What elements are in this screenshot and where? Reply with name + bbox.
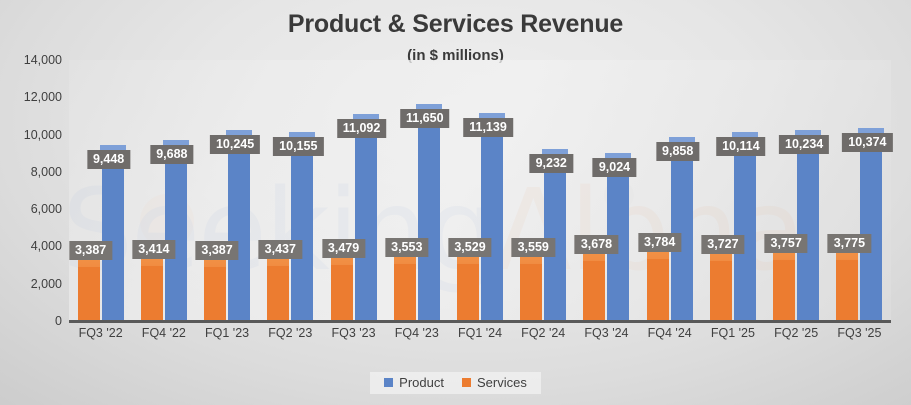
x-axis-tick: FQ1 '23 xyxy=(205,326,249,340)
y-axis-tick: 14,000 xyxy=(2,53,62,67)
bar-product[interactable] xyxy=(102,145,124,321)
y-axis: 02,0004,0006,0008,00010,00012,00014,000 xyxy=(0,60,62,321)
x-axis-tick: FQ2 '25 xyxy=(774,326,818,340)
bar-services[interactable] xyxy=(204,258,226,321)
legend-item-services[interactable]: Services xyxy=(462,375,527,390)
bar-product[interactable] xyxy=(228,130,250,321)
data-label-product: 11,092 xyxy=(337,119,387,138)
x-axis-tick: FQ4 '24 xyxy=(648,326,692,340)
y-axis-tick: 10,000 xyxy=(2,128,62,142)
data-label-services: 3,479 xyxy=(322,239,365,258)
bar-services[interactable] xyxy=(836,251,858,321)
bar-services[interactable] xyxy=(331,256,353,321)
bar-product[interactable] xyxy=(544,149,566,321)
data-label-product: 10,374 xyxy=(842,133,892,152)
x-axis-tick: FQ1 '24 xyxy=(458,326,502,340)
data-label-product: 11,139 xyxy=(463,118,513,137)
bar-services[interactable] xyxy=(141,257,163,321)
bar-services[interactable] xyxy=(583,252,605,321)
bar-services[interactable] xyxy=(773,251,795,321)
x-axis-tick: FQ3 '25 xyxy=(837,326,881,340)
bar-services[interactable] xyxy=(520,255,542,321)
data-label-product: 9,448 xyxy=(87,150,130,169)
data-label-services: 3,387 xyxy=(69,241,112,260)
bar-product[interactable] xyxy=(355,114,377,321)
legend-inner: ProductServices xyxy=(370,372,541,394)
y-axis-tick: 12,000 xyxy=(2,90,62,104)
y-axis-tick: 0 xyxy=(2,314,62,328)
data-label-product: 9,858 xyxy=(656,142,699,161)
data-label-product: 9,232 xyxy=(530,154,573,173)
bar-product[interactable] xyxy=(797,130,819,321)
data-label-product: 10,245 xyxy=(210,135,260,154)
x-axis: FQ3 '22FQ4 '22FQ1 '23FQ2 '23FQ3 '23FQ4 '… xyxy=(69,326,891,348)
x-axis-tick: FQ4 '22 xyxy=(142,326,186,340)
chart-legend: ProductServices xyxy=(0,372,911,394)
data-label-product: 9,688 xyxy=(150,145,193,164)
y-axis-tick: 6,000 xyxy=(2,202,62,216)
x-axis-tick: FQ4 '23 xyxy=(395,326,439,340)
x-axis-line xyxy=(69,320,891,323)
bar-product[interactable] xyxy=(291,132,313,321)
data-label-product: 10,234 xyxy=(779,135,829,154)
y-axis-tick: 4,000 xyxy=(2,239,62,253)
x-axis-tick: FQ3 '22 xyxy=(79,326,123,340)
chart-container: SeekingAlpha Product & Services Revenue … xyxy=(0,0,911,405)
bar-product[interactable] xyxy=(481,113,503,321)
data-label-services: 3,775 xyxy=(828,234,871,253)
data-label-product: 9,024 xyxy=(593,158,636,177)
data-label-services: 3,387 xyxy=(195,241,238,260)
x-axis-tick: FQ2 '24 xyxy=(521,326,565,340)
bar-services[interactable] xyxy=(647,250,669,321)
data-label-services: 3,437 xyxy=(259,240,302,259)
bar-product[interactable] xyxy=(671,137,693,321)
data-label-services: 3,553 xyxy=(385,238,428,257)
legend-swatch-icon xyxy=(462,378,471,387)
bar-services[interactable] xyxy=(394,255,416,321)
chart-title: Product & Services Revenue xyxy=(0,10,911,39)
legend-label: Services xyxy=(477,375,527,390)
plot-area xyxy=(69,60,891,321)
bar-services[interactable] xyxy=(78,258,100,321)
x-axis-tick: FQ3 '24 xyxy=(584,326,628,340)
data-label-product: 10,114 xyxy=(716,137,766,156)
bar-product[interactable] xyxy=(165,140,187,321)
y-axis-tick: 8,000 xyxy=(2,165,62,179)
data-label-services: 3,757 xyxy=(765,234,808,253)
legend-label: Product xyxy=(399,375,444,390)
y-axis-tick: 2,000 xyxy=(2,277,62,291)
data-label-product: 11,650 xyxy=(400,109,450,128)
x-axis-tick: FQ3 '23 xyxy=(331,326,375,340)
data-label-services: 3,727 xyxy=(701,235,744,254)
data-label-services: 3,784 xyxy=(638,233,681,252)
x-axis-tick: FQ1 '25 xyxy=(711,326,755,340)
bar-services[interactable] xyxy=(457,255,479,321)
legend-swatch-icon xyxy=(384,378,393,387)
bar-product[interactable] xyxy=(418,104,440,321)
legend-item-product[interactable]: Product xyxy=(384,375,444,390)
data-label-services: 3,678 xyxy=(575,235,618,254)
plot-background xyxy=(69,60,891,321)
data-label-product: 10,155 xyxy=(273,137,323,156)
x-axis-tick: FQ2 '23 xyxy=(268,326,312,340)
data-label-services: 3,559 xyxy=(512,238,555,257)
bar-product[interactable] xyxy=(860,128,882,321)
bar-services[interactable] xyxy=(267,257,289,321)
data-label-services: 3,529 xyxy=(448,238,491,257)
bar-services[interactable] xyxy=(710,252,732,321)
bar-product[interactable] xyxy=(734,132,756,321)
data-label-services: 3,414 xyxy=(132,240,175,259)
